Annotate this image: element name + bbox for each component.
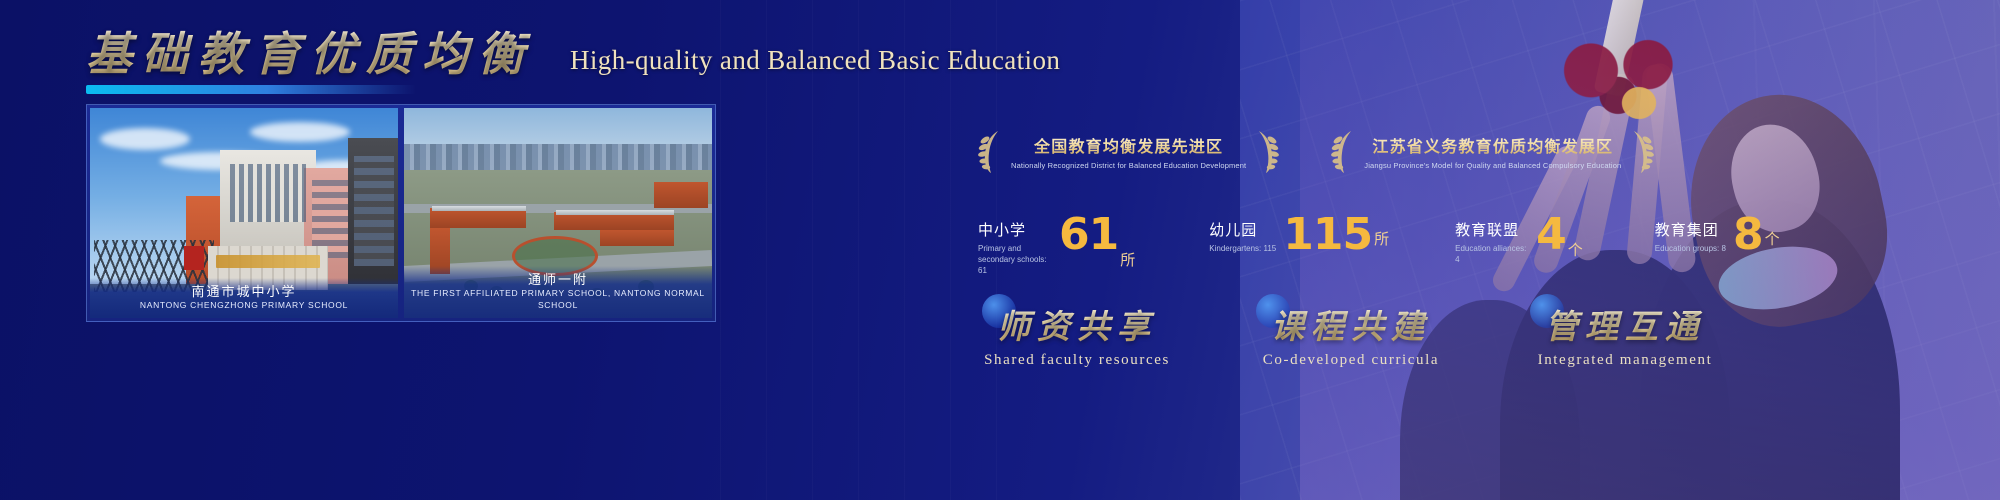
laurel-wreath-left-icon <box>978 128 1002 174</box>
stat-label-cn: 中小学 <box>978 219 1052 240</box>
slogan-shared-faculty: 师资共享 Shared faculty resources <box>972 300 1182 369</box>
campus-building <box>654 182 708 208</box>
stat-label-en: Kindergartens: 115 <box>1209 244 1276 255</box>
slogan-title-en: Integrated management <box>1520 352 1730 369</box>
window-grid <box>230 164 306 222</box>
stat-labels: 中小学 Primary and secondary schools: 61 <box>978 215 1052 276</box>
cloud <box>100 128 190 150</box>
slogan-title-cn: 课程共建 <box>1246 300 1456 348</box>
slogan-title-en: Co-developed curricula <box>1246 352 1456 369</box>
photo-caption-en: THE FIRST AFFILIATED PRIMARY SCHOOL, NAN… <box>404 288 712 312</box>
photo-card[interactable]: 南通市城中小学 NANTONG CHENGZHONG PRIMARY SCHOO… <box>90 108 398 318</box>
page-title-cn: 基础教育优质均衡 <box>86 18 534 90</box>
stat-item-education-groups: 教育集团 Education groups: 8 8 个 <box>1655 215 1780 255</box>
stat-value: 61 <box>1059 215 1118 255</box>
stat-unit: 个 <box>1568 239 1583 266</box>
campus-building <box>600 230 674 246</box>
stat-value: 115 <box>1283 215 1372 255</box>
slogan-title-en: Shared faculty resources <box>972 352 1182 369</box>
cloud <box>250 122 350 142</box>
slogan-row: 师资共享 Shared faculty resources 课程共建 Co-de… <box>972 300 1730 369</box>
title-underline <box>86 85 416 94</box>
award-badges: 全国教育均衡发展先进区 Nationally Recognized Distri… <box>978 128 1654 174</box>
stat-item-primary-secondary: 中小学 Primary and secondary schools: 61 61… <box>978 215 1135 276</box>
stat-label-cn: 幼儿园 <box>1209 219 1276 240</box>
page-title-en: High-quality and Balanced Basic Educatio… <box>570 45 1060 90</box>
photo-caption-en: NANTONG CHENGZHONG PRIMARY SCHOOL <box>90 300 398 312</box>
stat-label-en: Primary and secondary schools: 61 <box>978 244 1052 276</box>
stat-value: 4 <box>1536 215 1566 255</box>
photo-panel: 南通市城中小学 NANTONG CHENGZHONG PRIMARY SCHOO… <box>86 104 716 322</box>
photo-caption-cn: 南通市城中小学 <box>90 283 398 301</box>
campus-building <box>430 208 526 228</box>
award-badge: 江苏省义务教育优质均衡发展区 Jiangsu Province's Model … <box>1331 128 1654 174</box>
stat-label-cn: 教育集团 <box>1655 219 1726 240</box>
statistics-row: 中小学 Primary and secondary schools: 61 61… <box>978 215 1780 276</box>
photo-caption: 南通市城中小学 NANTONG CHENGZHONG PRIMARY SCHOO… <box>90 278 398 318</box>
laurel-wreath-left-icon <box>1331 128 1355 174</box>
stat-label-en: Education groups: 8 <box>1655 244 1726 255</box>
stat-labels: 教育集团 Education groups: 8 <box>1655 215 1726 255</box>
school-name-plaque <box>216 255 320 268</box>
photo-caption-cn: 通师一附 <box>404 271 712 289</box>
photo-card[interactable]: 通师一附 THE FIRST AFFILIATED PRIMARY SCHOOL… <box>404 108 712 318</box>
stat-item-education-alliances: 教育联盟 Education alliances: 4 4 个 <box>1455 215 1583 266</box>
photo-caption: 通师一附 THE FIRST AFFILIATED PRIMARY SCHOOL… <box>404 266 712 318</box>
badge-text: 江苏省义务教育优质均衡发展区 Jiangsu Province's Model … <box>1364 133 1621 170</box>
slogan-integrated-management: 管理互通 Integrated management <box>1520 300 1730 369</box>
badge-title-en: Jiangsu Province's Model for Quality and… <box>1364 161 1621 170</box>
stat-label-en: Education alliances: 4 <box>1455 244 1529 266</box>
stat-label-cn: 教育联盟 <box>1455 219 1529 240</box>
laurel-wreath-right-icon <box>1255 128 1279 174</box>
building-roof <box>432 206 526 211</box>
building-roof <box>556 210 674 215</box>
stat-unit: 所 <box>1120 249 1135 276</box>
stat-item-kindergartens: 幼儿园 Kindergartens: 115 115 所 <box>1209 215 1389 255</box>
badge-text: 全国教育均衡发展先进区 Nationally Recognized Distri… <box>1011 133 1246 170</box>
red-sign-board <box>184 246 204 270</box>
window-grid <box>354 156 394 266</box>
stat-value: 8 <box>1733 215 1763 255</box>
badge-title-cn: 江苏省义务教育优质均衡发展区 <box>1364 133 1621 157</box>
infographic-banner: 基础教育优质均衡 High-quality and Balanced Basic… <box>0 0 2000 500</box>
laurel-wreath-right-icon <box>1630 128 1654 174</box>
banner-header: 基础教育优质均衡 High-quality and Balanced Basic… <box>86 18 1060 90</box>
stat-labels: 幼儿园 Kindergartens: 115 <box>1209 215 1276 255</box>
stat-unit: 所 <box>1374 228 1389 255</box>
slogan-title-cn: 管理互通 <box>1520 300 1730 348</box>
slogan-title-cn: 师资共享 <box>972 300 1182 348</box>
badge-title-cn: 全国教育均衡发展先进区 <box>1011 133 1246 157</box>
badge-title-en: Nationally Recognized District for Balan… <box>1011 161 1246 170</box>
stat-labels: 教育联盟 Education alliances: 4 <box>1455 215 1529 266</box>
stat-unit: 个 <box>1765 228 1780 255</box>
slogan-co-developed-curricula: 课程共建 Co-developed curricula <box>1246 300 1456 369</box>
award-badge: 全国教育均衡发展先进区 Nationally Recognized Distri… <box>978 128 1279 174</box>
